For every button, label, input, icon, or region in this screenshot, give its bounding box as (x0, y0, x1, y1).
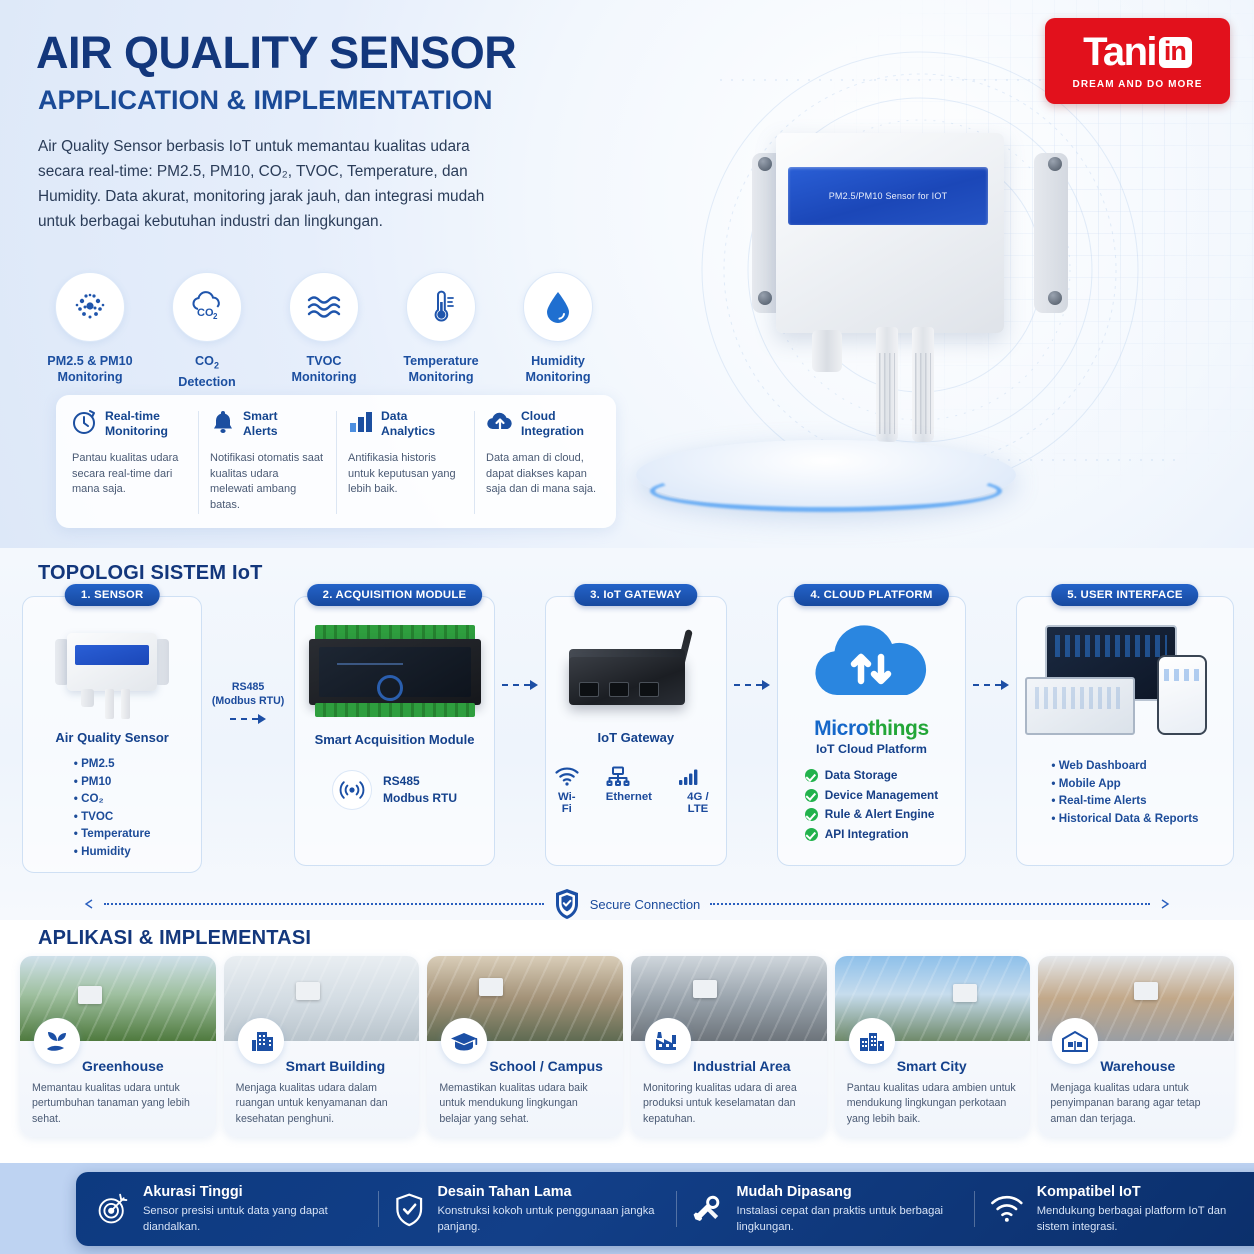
footer-item-text: Kompatibel IoT Mendukung berbagai platfo… (1037, 1183, 1254, 1235)
plant-icon (34, 1018, 80, 1064)
capability-desc: Antifikasia historis untuk keputusan yan… (348, 451, 462, 498)
acquisition-module-image (309, 625, 481, 717)
capability-title: SmartAlerts (243, 409, 278, 439)
list-item: Real-time Alerts (1051, 792, 1198, 810)
topology-flow: 1. SENSOR Air Quality Sensor PM2.5 PM10 … (22, 596, 1234, 896)
list-item: Data Storage (805, 766, 938, 786)
check-icon (805, 808, 818, 821)
connector-gateway (495, 596, 545, 690)
infographic-page: AIR QUALITY SENSOR APPLICATION & IMPLEME… (0, 0, 1254, 1254)
warehouse-icon (1052, 1018, 1098, 1064)
sensor-capability-list: PM2.5 PM10 CO₂ TVOC Temperature Humidity (74, 755, 151, 860)
footer-item-installation: Mudah Dipasang Instalasi cepat dan prakt… (676, 1183, 974, 1235)
footer-item-title: Desain Tahan Lama (437, 1183, 660, 1202)
screw-icon (1048, 157, 1062, 171)
sensing-feature-label: CO2Detection (155, 353, 259, 390)
check-icon (805, 828, 818, 841)
application-card-smart-building[interactable]: Smart Building Menjaga kualitas udara da… (224, 956, 420, 1137)
node-name: IoT Gateway (554, 729, 718, 746)
sensing-feature-label: TVOCMonitoring (272, 353, 376, 385)
product-label-text: PM2.5/PM10 Sensor for IOT (829, 191, 948, 201)
topology-node-acquisition: 2. ACQUISITION MODULE Smart Acquisition … (294, 596, 495, 866)
sensor-probe (912, 327, 934, 442)
topology-node-gateway: 3. IoT GATEWAY IoT Gateway (545, 596, 727, 866)
application-card-greenhouse[interactable]: Greenhouse Memantau kualitas udara untuk… (20, 956, 216, 1137)
cable-gland (812, 330, 842, 372)
topology-section: TOPOLOGI SISTEM IoT 1. SENSOR Air Qualit… (0, 548, 1254, 920)
capability-card-analytics: DataAnalytics Antifikasia historis untuk… (336, 409, 474, 520)
footer-item-desc: Mendukung berbagai platform IoT dan sist… (1037, 1204, 1254, 1235)
co2-cloud-icon: CO 2 (172, 272, 242, 342)
check-icon (805, 769, 818, 782)
footer-item-text: Desain Tahan Lama Konstruksi kokoh untuk… (437, 1183, 660, 1235)
hero-section: AIR QUALITY SENSOR APPLICATION & IMPLEME… (0, 0, 1254, 548)
capability-title: Real-timeMonitoring (105, 409, 168, 439)
sensing-feature-label: HumidityMonitoring (506, 353, 610, 385)
sensor-probe (876, 327, 898, 442)
applications-title: APLIKASI & IMPLEMENTASI (38, 927, 311, 950)
secure-connection-bar: Secure Connection (0, 884, 1254, 924)
ui-feature-list: Web Dashboard Mobile App Real-time Alert… (1051, 757, 1198, 827)
bar-chart-icon (348, 409, 374, 435)
gateway-link-ethernet: Ethernet (606, 766, 652, 815)
topology-node-user-interface: 5. USER INTERFACE Web Dashboard Mobile A… (1016, 596, 1234, 866)
clock-icon (72, 409, 98, 435)
application-name: Warehouse (1100, 1058, 1224, 1074)
gateway-link-row: Wi-Fi Ethernet (554, 766, 718, 815)
list-item: CO₂ (74, 790, 151, 808)
link-label: 4G / LTE (678, 791, 718, 815)
shield-check-icon (554, 888, 580, 920)
podium-glow-ring (650, 470, 1002, 512)
list-item: Humidity (74, 843, 151, 861)
arrow-right-icon (230, 714, 266, 724)
bell-icon (210, 409, 236, 435)
link-label: Wi-Fi (554, 791, 580, 815)
list-item: TVOC (74, 808, 151, 826)
footer-item-title: Mudah Dipasang (737, 1183, 958, 1202)
city-icon (849, 1018, 895, 1064)
building-icon (238, 1018, 284, 1064)
sensing-feature-pm: PM2.5 & PM10Monitoring (38, 272, 142, 390)
application-name: Smart City (897, 1058, 1021, 1074)
application-name: Industrial Area (693, 1058, 817, 1074)
footer-item-compatibility: Kompatibel IoT Mendukung berbagai platfo… (974, 1183, 1254, 1235)
logo-wordmark: Tani in (1083, 32, 1192, 72)
connector-cloud (727, 596, 777, 690)
logo-tagline: DREAM AND DO MORE (1073, 79, 1203, 90)
protocol-label: RS485Modbus RTU (383, 773, 457, 807)
logo-main-text: Tani (1083, 32, 1156, 72)
list-item: Rule & Alert Engine (805, 805, 938, 825)
sensor-device-image (51, 627, 173, 703)
application-desc: Menjaga kualitas udara dalam ruangan unt… (236, 1081, 408, 1127)
application-desc: Memantau kualitas udara untuk pertumbuha… (32, 1081, 204, 1127)
footer-item-desc: Konstruksi kokoh untuk penggunaan jangka… (437, 1204, 660, 1235)
node-badge: 2. ACQUISITION MODULE (307, 584, 483, 606)
graduation-cap-icon (441, 1018, 487, 1064)
footer-item-accuracy: Akurasi Tinggi Sensor presisi untuk data… (80, 1183, 378, 1235)
arrow-left-icon (84, 899, 94, 909)
application-card-smart-city[interactable]: Smart City Pantau kualitas udara ambien … (835, 956, 1031, 1137)
sensing-feature-temperature: TemperatureMonitoring (389, 272, 493, 390)
rf-signal-icon (332, 770, 372, 810)
application-desc: Monitoring kualitas udara di area produk… (643, 1081, 815, 1127)
sensing-feature-tvoc: TVOCMonitoring (272, 272, 376, 390)
sensing-feature-label: PM2.5 & PM10Monitoring (38, 353, 142, 385)
list-item: API Integration (805, 825, 938, 845)
list-item: Device Management (805, 786, 938, 806)
application-card-industrial-area[interactable]: Industrial Area Monitoring kualitas udar… (631, 956, 827, 1137)
footer-item-durability: Desain Tahan Lama Konstruksi kokoh untuk… (378, 1183, 676, 1235)
hero-description: Air Quality Sensor berbasis IoT untuk me… (38, 134, 508, 234)
arrow-right-icon (502, 680, 538, 690)
footer-benefits-bar: Akurasi Tinggi Sensor presisi untuk data… (76, 1172, 1254, 1246)
screw-icon (758, 291, 772, 305)
node-badge: 1. SENSOR (65, 584, 160, 606)
list-item: Web Dashboard (1051, 757, 1198, 775)
product-housing: PM2.5/PM10 Sensor for IOT (776, 133, 1004, 333)
application-name: School / Campus (489, 1058, 613, 1074)
capability-header: SmartAlerts (210, 409, 324, 443)
waves-icon (289, 272, 359, 342)
arrow-right-icon (734, 680, 770, 690)
shield-check-icon (394, 1189, 424, 1229)
sensing-feature-label: TemperatureMonitoring (389, 353, 493, 385)
page-title: AIR QUALITY SENSOR (36, 27, 516, 79)
capability-title: CloudIntegration (521, 409, 584, 439)
list-item: PM10 (74, 773, 151, 791)
sensing-feature-humidity: HumidityMonitoring (506, 272, 610, 390)
footer-item-title: Kompatibel IoT (1037, 1183, 1254, 1202)
check-icon (805, 789, 818, 802)
gateway-link-wifi: Wi-Fi (554, 766, 580, 815)
wifi-icon (554, 766, 580, 786)
application-name: Smart Building (286, 1058, 410, 1074)
topology-node-sensor: 1. SENSOR Air Quality Sensor PM2.5 PM10 … (22, 596, 202, 873)
node-name: Air Quality Sensor (31, 729, 193, 746)
capability-panel: Real-timeMonitoring Pantau kualitas udar… (56, 395, 616, 528)
footer-item-desc: Instalasi cepat dan praktis untuk berbag… (737, 1204, 958, 1235)
list-item: PM2.5 (74, 755, 151, 773)
protocol-row: RS485Modbus RTU (303, 770, 486, 810)
capability-title: DataAnalytics (381, 409, 435, 439)
user-interface-devices-image (1025, 625, 1225, 735)
sensing-feature-co2: CO 2 CO2Detection (155, 272, 259, 390)
cloud-sync-icon (796, 623, 946, 715)
footer-item-text: Akurasi Tinggi Sensor presisi untuk data… (143, 1183, 362, 1235)
application-desc: Pantau kualitas udara ambien untuk mendu… (847, 1081, 1019, 1127)
application-desc: Menjaga kualitas udara untuk penyimpanan… (1050, 1081, 1222, 1127)
node-badge: 5. USER INTERFACE (1051, 584, 1198, 606)
product-label-panel: PM2.5/PM10 Sensor for IOT (788, 167, 988, 225)
capability-header: Real-timeMonitoring (72, 409, 186, 443)
connector-label: RS485(Modbus RTU) (212, 680, 284, 708)
topology-title: TOPOLOGI SISTEM IoT (38, 562, 263, 585)
node-badge: 3. IoT GATEWAY (574, 584, 697, 606)
arrow-right-icon (1160, 899, 1170, 909)
application-card-warehouse[interactable]: Warehouse Menjaga kualitas udara untuk p… (1038, 956, 1234, 1137)
capability-header: CloudIntegration (486, 409, 600, 443)
capability-card-alerts: SmartAlerts Notifikasi otomatis saat kua… (198, 409, 336, 520)
application-card-school-campus[interactable]: School / Campus Memastikan kualitas udar… (427, 956, 623, 1137)
cloud-feature-list: Data Storage Device Management Rule & Al… (805, 766, 938, 844)
water-drop-icon (523, 272, 593, 342)
applications-grid: Greenhouse Memantau kualitas udara untuk… (20, 956, 1234, 1137)
gateway-device-image (561, 627, 711, 719)
logo-accent-text: in (1159, 37, 1192, 68)
capability-desc: Pantau kualitas udara secara real-time d… (72, 451, 186, 498)
footer-item-title: Akurasi Tinggi (143, 1183, 362, 1202)
capability-card-realtime: Real-timeMonitoring Pantau kualitas udar… (60, 409, 198, 520)
target-icon (96, 1190, 130, 1228)
page-subtitle: APPLICATION & IMPLEMENTATION (38, 85, 492, 116)
cloud-upload-icon (486, 409, 514, 435)
svg-text:2: 2 (213, 312, 218, 321)
sensing-feature-row: PM2.5 & PM10Monitoring CO 2 CO2Detection (38, 272, 628, 390)
footer-item-text: Mudah Dipasang Instalasi cepat dan prakt… (737, 1183, 958, 1235)
cloud-platform-name: Microthings (786, 717, 958, 741)
link-label: Ethernet (606, 791, 652, 803)
node-badge: 4. CLOUD PLATFORM (794, 584, 948, 606)
list-item: Historical Data & Reports (1051, 810, 1198, 828)
topology-node-cloud: 4. CLOUD PLATFORM Microthings IoT Cloud … (777, 596, 967, 866)
thermometer-icon (406, 272, 476, 342)
gateway-link-cellular: 4G / LTE (678, 766, 718, 815)
node-name: Smart Acquisition Module (303, 731, 486, 748)
ethernet-icon (606, 766, 630, 786)
secure-connection-label: Secure Connection (590, 897, 701, 912)
list-item: Mobile App (1051, 775, 1198, 793)
arrow-right-icon (973, 680, 1009, 690)
brand-logo: Tani in DREAM AND DO MORE (1045, 18, 1230, 104)
tools-icon (692, 1190, 724, 1228)
product-mount-right (1034, 153, 1068, 313)
list-item: Temperature (74, 825, 151, 843)
wifi-icon (990, 1192, 1024, 1226)
capability-desc: Notifikasi otomatis saat kualitas udara … (210, 451, 324, 513)
svg-text:CO: CO (197, 307, 214, 319)
capability-header: DataAnalytics (348, 409, 462, 443)
signal-bars-icon (678, 766, 702, 786)
factory-icon (645, 1018, 691, 1064)
particles-icon (55, 272, 125, 342)
capability-desc: Data aman di cloud, dapat diakses kapan … (486, 451, 600, 498)
footer-item-desc: Sensor presisi untuk data yang dapat dia… (143, 1204, 362, 1235)
connector-ui (966, 596, 1016, 690)
cloud-platform-subtitle: IoT Cloud Platform (786, 742, 958, 756)
capability-card-cloud: CloudIntegration Data aman di cloud, dap… (474, 409, 612, 520)
connector-rs485: RS485(Modbus RTU) (202, 596, 294, 724)
applications-section: APLIKASI & IMPLEMENTASI Greenhouse Meman… (0, 920, 1254, 1163)
application-name: Greenhouse (82, 1058, 206, 1074)
screw-icon (758, 157, 772, 171)
screw-icon (1048, 291, 1062, 305)
application-desc: Memastikan kualitas udara baik untuk men… (439, 1081, 611, 1127)
